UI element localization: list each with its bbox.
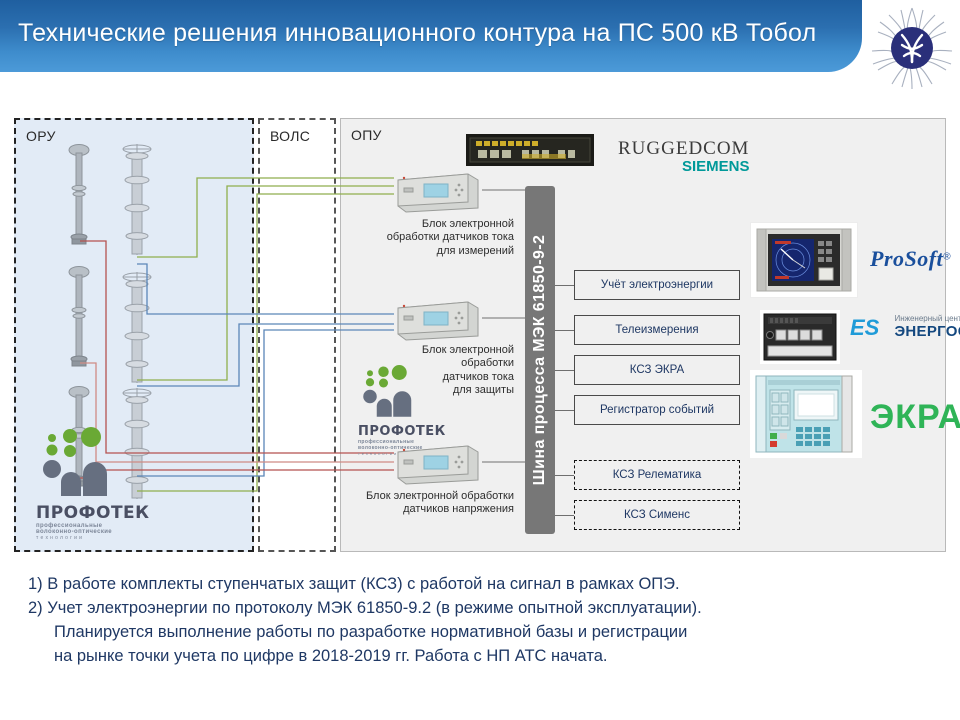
energoservice-text: ЭНЕРГОСЕРВИС <box>894 323 960 340</box>
ruggedcom-switch-photo <box>466 134 594 166</box>
profotek-word-opu: ПРОФОТЕК <box>358 424 446 439</box>
current-transformer-2 <box>116 268 158 393</box>
prosoft-device-photo <box>750 222 858 298</box>
ekra-device-photo <box>750 370 862 458</box>
note-line-4: на рынке точки учета по цифре в 2018-201… <box>28 644 943 668</box>
es-monogram-icon: ES <box>850 314 886 340</box>
ekra-wordmark: ЭКРА <box>870 398 960 437</box>
stub-2 <box>555 330 574 331</box>
mu-current-measure <box>394 168 482 214</box>
stub-5 <box>555 475 574 476</box>
fbox-ksz-siemens[interactable]: КСЗ Сименс <box>574 500 740 530</box>
profotek-logo-oru: ПРОФОТЕК профессиональные волоконно-опти… <box>36 424 150 541</box>
process-bus: Шина процесса МЭК 61850-9-2 <box>525 186 555 534</box>
fbox-ksz-relematika[interactable]: КСЗ Релематика <box>574 460 740 490</box>
profotek-logo-opu: ПРОФОТЕК профессиональные волоконно-опти… <box>358 362 446 456</box>
panel-vols: ВОЛС <box>258 118 336 552</box>
profotek-sub3-oru: т е х н о л о г и и <box>36 535 150 541</box>
voltage-transformer-2 <box>62 264 96 377</box>
stub-3 <box>555 370 574 371</box>
note-line-1: 1) В работе комплекты ступенчатых защит … <box>28 572 943 596</box>
footer-notes: 1) В работе комплекты ступенчатых защит … <box>28 572 943 668</box>
diagram-canvas: ОРУ ВОЛС ОПУ <box>14 118 946 552</box>
stub-6 <box>555 515 574 516</box>
fsk-ees-logo <box>868 4 956 92</box>
ruggedcom-text: RUGGEDCOM <box>618 138 749 160</box>
profotek-mark-icon <box>36 424 132 502</box>
stub-4 <box>555 410 574 411</box>
fbox-event-recorder[interactable]: Регистратор событий <box>574 395 740 425</box>
profotek-sub3-opu: т е х н о л о г и и <box>358 451 446 456</box>
prosoft-wordmark: ProSoft® <box>870 246 951 272</box>
prosoft-registered-icon: ® <box>943 252 950 263</box>
process-bus-label: Шина процесса МЭК 61850-9-2 <box>531 235 549 486</box>
profotek-word-oru: ПРОФОТЕК <box>36 503 150 523</box>
energoservice-sub: Инженерный центр <box>894 314 960 323</box>
svg-text:ES: ES <box>850 315 880 340</box>
fbox-ksz-ekra[interactable]: КСЗ ЭКРА <box>574 355 740 385</box>
panel-vols-label: ВОЛС <box>270 128 310 144</box>
panel-opu-label: ОПУ <box>351 127 382 143</box>
fbox-energy-metering[interactable]: Учёт электроэнергии <box>574 270 740 300</box>
fbox-telemetry[interactable]: Телеизмерения <box>574 315 740 345</box>
siemens-text: SIEMENS <box>618 158 749 175</box>
title-bar: Технические решения инновационного конту… <box>0 0 862 72</box>
mu-voltage-caption: Блок электронной обработки датчиков напр… <box>334 490 514 517</box>
mu-current-protect <box>394 296 482 342</box>
ekra-text: ЭКРА <box>870 398 960 436</box>
current-transformer-1 <box>116 140 158 265</box>
energoservice-wordmark: ES Инженерный центр ЭНЕРГОСЕРВИС <box>850 314 960 340</box>
stub-1 <box>555 285 574 286</box>
ruggedcom-wordmark: RUGGEDCOM SIEMENS <box>618 138 749 175</box>
voltage-transformer-1 <box>62 142 96 255</box>
note-line-2: 2) Учет электроэнергии по протоколу МЭК … <box>28 596 943 620</box>
profotek-mark-icon-2 <box>358 362 430 422</box>
energoservice-device-photo <box>760 310 840 364</box>
panel-oru-label: ОРУ <box>26 128 56 144</box>
note-line-3: Планируется выполнение работы по разрабо… <box>28 620 943 644</box>
prosoft-text: ProSoft <box>870 246 943 271</box>
mu-current-measure-caption: Блок электронной обработки датчиков тока… <box>364 218 514 258</box>
page-title: Технические решения инновационного конту… <box>18 19 816 48</box>
